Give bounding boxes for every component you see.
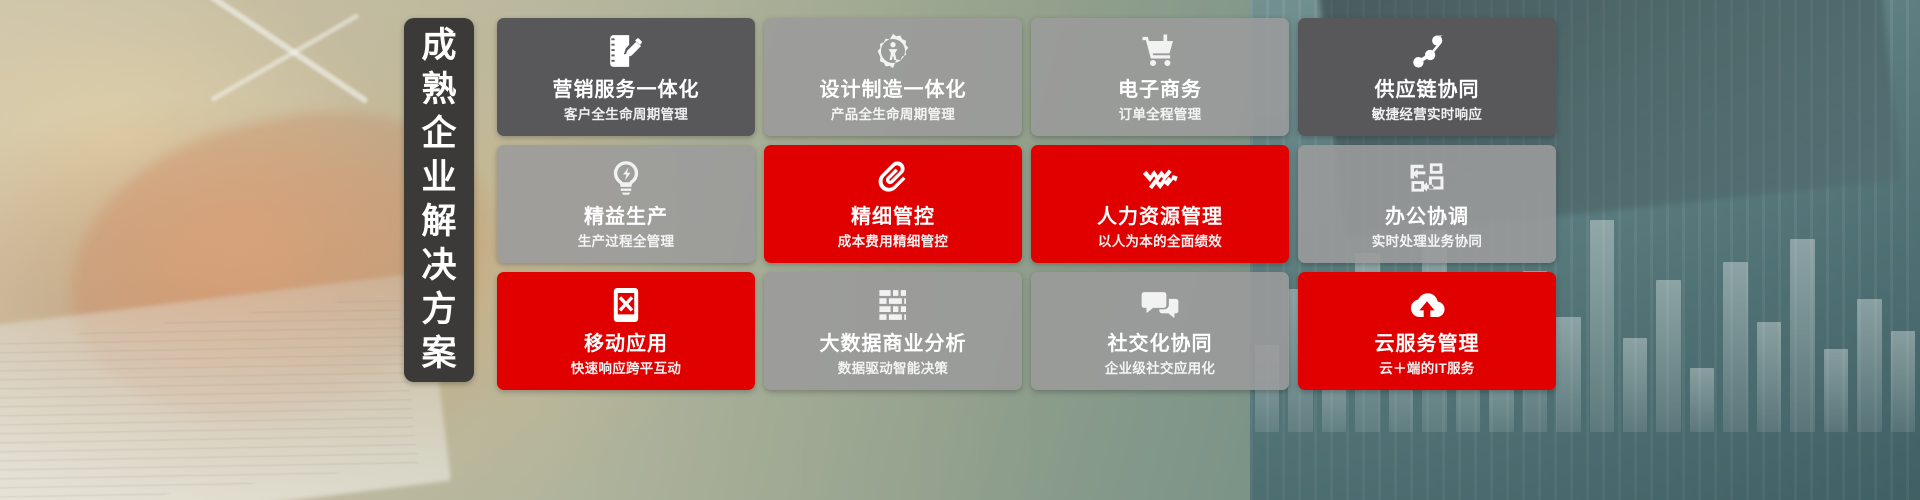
- paperclip-link-icon: [873, 158, 913, 198]
- solution-card-5[interactable]: 精益生产生产过程全管理: [497, 145, 755, 263]
- gear-person-icon: [873, 31, 913, 71]
- solution-card-8[interactable]: 办公协调实时处理业务协同: [1298, 145, 1556, 263]
- card-title: 电子商务: [1118, 78, 1202, 102]
- solution-card-6[interactable]: 精细管控成本费用精细管控: [764, 145, 1022, 263]
- data-blocks-icon: [873, 285, 913, 325]
- solution-card-7[interactable]: 人力资源管理以人为本的全面绩效: [1031, 145, 1289, 263]
- shopping-cart-download-icon: [1140, 31, 1180, 71]
- solution-card-9[interactable]: 移动应用快速响应跨平互动: [497, 272, 755, 390]
- vertical-title: 成熟企业解决方案: [404, 18, 474, 382]
- solution-card-4[interactable]: 供应链协同敏捷经营实时响应: [1298, 18, 1556, 136]
- card-subtitle: 敏捷经营实时响应: [1372, 106, 1482, 123]
- chat-bubbles-icon: [1140, 285, 1180, 325]
- banner-stage: 成熟企业解决方案 营销服务一体化客户全生命周期管理设计制造一体化产品全生命周期管…: [0, 0, 1920, 500]
- card-title: 供应链协同: [1375, 78, 1480, 102]
- card-subtitle: 订单全程管理: [1119, 106, 1202, 123]
- solution-card-grid: 营销服务一体化客户全生命周期管理设计制造一体化产品全生命周期管理电子商务订单全程…: [497, 18, 1556, 390]
- vertical-title-char: 决: [421, 245, 456, 287]
- solution-card-11[interactable]: 社交化协同企业级社交应用化: [1031, 272, 1289, 390]
- lightbulb-bolt-icon: [606, 158, 646, 198]
- vertical-title-char: 企: [421, 113, 456, 155]
- card-subtitle: 云＋端的IT服务: [1379, 360, 1474, 377]
- card-title: 设计制造一体化: [820, 78, 967, 102]
- card-subtitle: 企业级社交应用化: [1105, 360, 1215, 377]
- card-title: 精益生产: [584, 205, 668, 229]
- card-subtitle: 成本费用精细管控: [838, 233, 948, 250]
- card-title: 移动应用: [584, 332, 668, 356]
- card-title: 办公协调: [1385, 205, 1469, 229]
- card-title: 云服务管理: [1375, 332, 1480, 356]
- card-title: 精细管控: [851, 205, 935, 229]
- solution-card-10[interactable]: 大数据商业分析数据驱动智能决策: [764, 272, 1022, 390]
- vertical-title-char: 业: [421, 157, 456, 199]
- vertical-title-char: 解: [421, 201, 456, 243]
- vertical-title-char: 熟: [421, 69, 456, 111]
- growth-chart-arrow-icon: [1140, 158, 1180, 198]
- card-subtitle: 以人为本的全面绩效: [1098, 233, 1222, 250]
- cloud-upload-icon: [1407, 285, 1447, 325]
- mobile-phone-icon: [606, 285, 646, 325]
- network-share-icon: [1407, 31, 1447, 71]
- vertical-title-char: 案: [421, 333, 456, 375]
- vertical-title-char: 成: [421, 25, 456, 67]
- solution-card-3[interactable]: 电子商务订单全程管理: [1031, 18, 1289, 136]
- vertical-title-char: 方: [421, 289, 456, 331]
- card-title: 社交化协同: [1108, 332, 1213, 356]
- solution-card-12[interactable]: 云服务管理云＋端的IT服务: [1298, 272, 1556, 390]
- card-subtitle: 快速响应跨平互动: [571, 360, 681, 377]
- card-title: 大数据商业分析: [820, 332, 967, 356]
- card-title: 人力资源管理: [1097, 205, 1223, 229]
- banner-content: 成熟企业解决方案 营销服务一体化客户全生命周期管理设计制造一体化产品全生命周期管…: [0, 0, 1920, 500]
- notepad-pen-icon: [606, 31, 646, 71]
- card-subtitle: 数据驱动智能决策: [838, 360, 948, 377]
- card-subtitle: 产品全生命周期管理: [831, 106, 955, 123]
- solution-card-2[interactable]: 设计制造一体化产品全生命周期管理: [764, 18, 1022, 136]
- documents-exchange-icon: [1407, 158, 1447, 198]
- solution-card-1[interactable]: 营销服务一体化客户全生命周期管理: [497, 18, 755, 136]
- card-subtitle: 实时处理业务协同: [1372, 233, 1482, 250]
- card-subtitle: 生产过程全管理: [578, 233, 675, 250]
- card-subtitle: 客户全生命周期管理: [564, 106, 688, 123]
- card-title: 营销服务一体化: [553, 78, 700, 102]
